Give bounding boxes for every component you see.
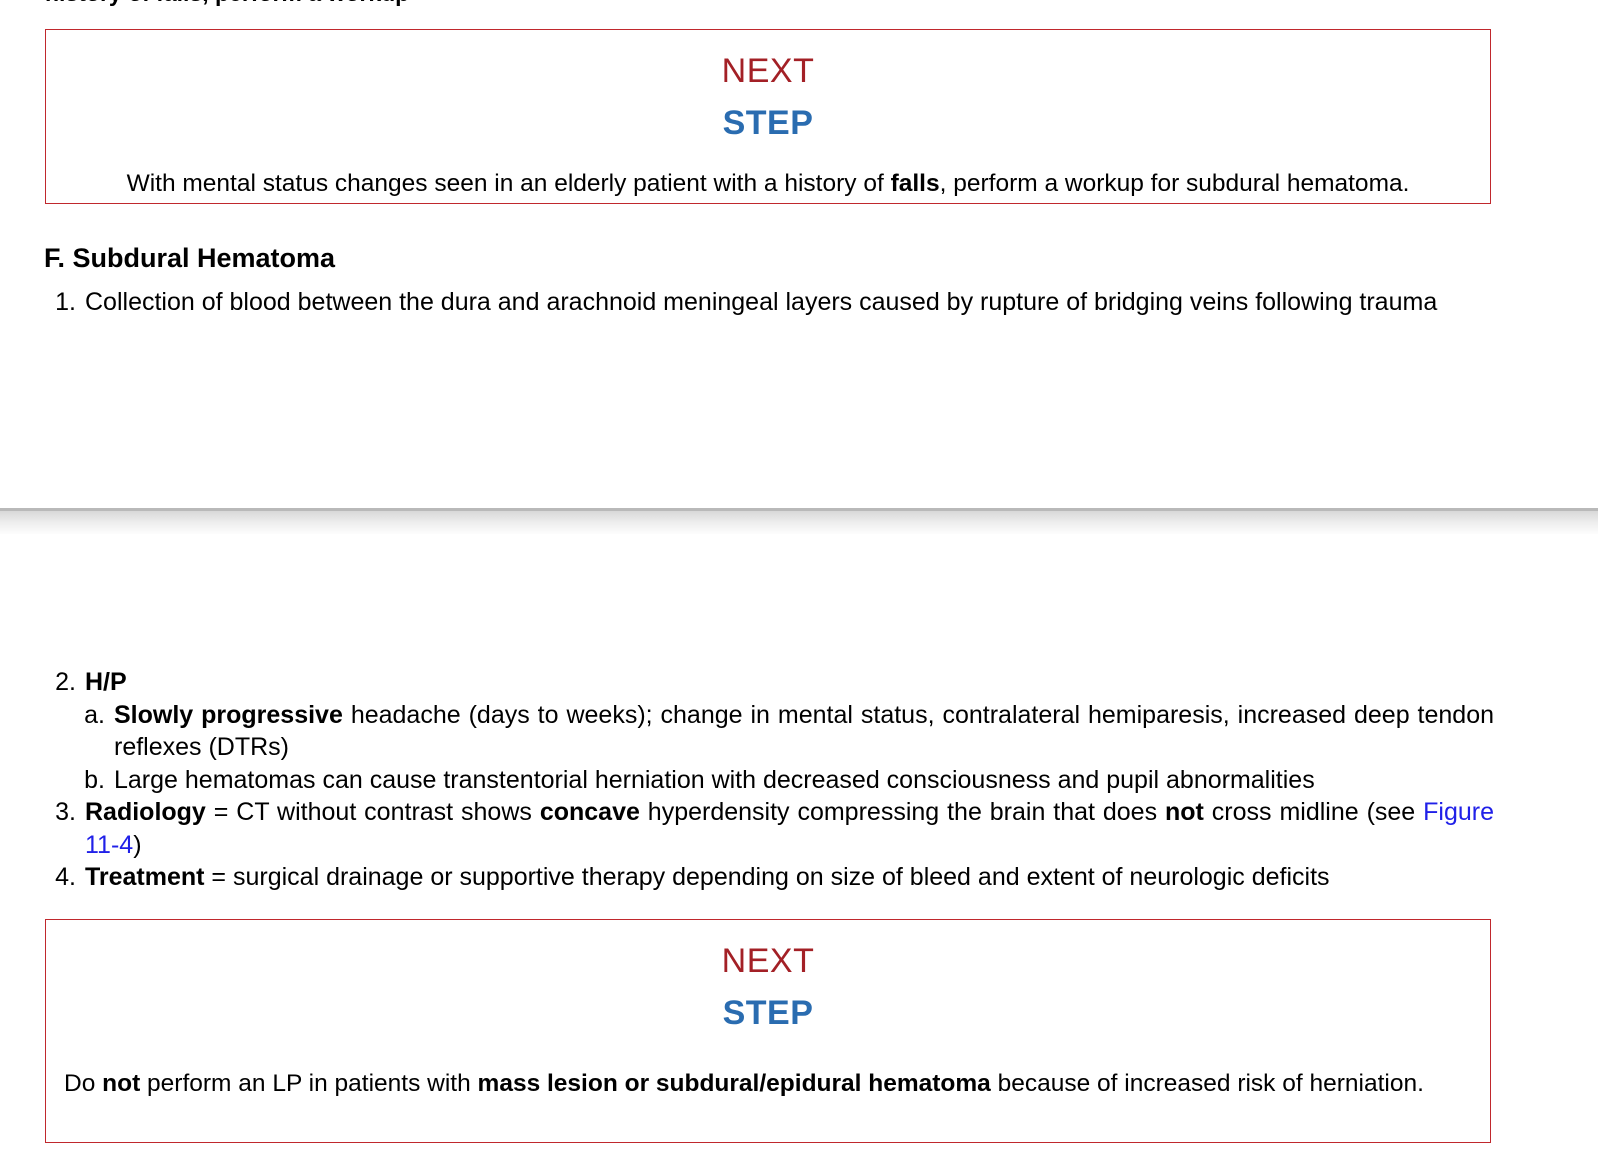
list-item-4: 4. Treatment = surgical drainage or supp… [0, 861, 1598, 894]
clipped-previous-line: history of falls, perform a workup [45, 0, 1495, 8]
list-item-2-marker: 2. [0, 666, 85, 699]
list-item-3-bold-lead: Radiology [85, 798, 206, 826]
next-step-callout-bottom: NEXT STEP Do not perform an LP in patien… [45, 919, 1491, 1143]
callout-title-step-bottom: STEP [46, 981, 1490, 1033]
list-item-4-text: Treatment = surgical drainage or support… [85, 861, 1598, 894]
callout-bottom-part3: because of increased risk of herniation. [991, 1070, 1424, 1097]
list-block-upper: 1. Collection of blood between the dura … [0, 286, 1598, 319]
list-item-3: 3. Radiology = CT without contrast shows… [0, 796, 1598, 861]
list-item-4-rest: = surgical drainage or supportive therap… [204, 863, 1329, 891]
list-item-3-text: Radiology = CT without contrast shows co… [85, 796, 1598, 861]
callout-top-text-suffix: , perform a workup for subdural hematoma… [940, 170, 1410, 197]
callout-top-text-bold: falls [891, 170, 940, 197]
list-item-2a-marker: a. [0, 699, 114, 764]
list-item-3-bold-not: not [1165, 798, 1204, 826]
list-item-3-marker: 3. [0, 796, 85, 861]
list-item-3-part4: ) [133, 831, 141, 859]
list-item-3-bold-concave: concave [540, 798, 640, 826]
list-item-2b: b. Large hematomas can cause transtentor… [0, 764, 1598, 797]
list-item-2-text: H/P [85, 666, 1598, 699]
list-item-1-text: Collection of blood between the dura and… [85, 286, 1598, 319]
callout-body-bottom: Do not perform an LP in patients with ma… [46, 1033, 1490, 1100]
list-item-1-marker: 1. [0, 286, 85, 319]
callout-bottom-part1: Do [64, 1070, 102, 1097]
callout-bottom-bold-not: not [102, 1070, 140, 1097]
list-item-3-part3: cross midline (see [1204, 798, 1423, 826]
list-block-lower: 2. H/P a. Slowly progressive headache (d… [0, 666, 1598, 894]
list-item-4-bold-lead: Treatment [85, 863, 204, 891]
next-step-callout-top: NEXT STEP With mental status changes see… [45, 29, 1491, 204]
list-item-2a-bold-lead: Slowly progressive [114, 701, 343, 729]
list-item-2-label: H/P [85, 668, 127, 696]
list-item-2b-marker: b. [0, 764, 114, 797]
list-item-2a: a. Slowly progressive headache (days to … [0, 699, 1598, 764]
callout-title-next-bottom: NEXT [46, 920, 1490, 981]
page-break-divider [0, 508, 1598, 534]
list-item-4-marker: 4. [0, 861, 85, 894]
list-item-3-part1: = CT without contrast shows [206, 798, 540, 826]
callout-body-top: With mental status changes seen in an el… [46, 143, 1490, 200]
list-item-2: 2. H/P [0, 666, 1598, 699]
callout-title-next-top: NEXT [46, 30, 1490, 91]
callout-top-text-prefix: With mental status changes seen in an el… [127, 170, 891, 197]
list-item-3-part2: hyperdensity compressing the brain that … [640, 798, 1165, 826]
callout-bottom-bold-mass-lesion: mass lesion or subdural/epidural hematom… [478, 1070, 991, 1097]
list-item-2a-text: Slowly progressive headache (days to wee… [114, 699, 1598, 764]
list-item-2b-text: Large hematomas can cause transtentorial… [114, 764, 1598, 797]
callout-bottom-part2: perform an LP in patients with [140, 1070, 477, 1097]
callout-title-step-top: STEP [46, 91, 1490, 143]
section-heading-subdural-hematoma: F. Subdural Hematoma [44, 241, 335, 275]
list-item-1: 1. Collection of blood between the dura … [0, 286, 1598, 319]
page-break-shadow [0, 511, 1598, 534]
